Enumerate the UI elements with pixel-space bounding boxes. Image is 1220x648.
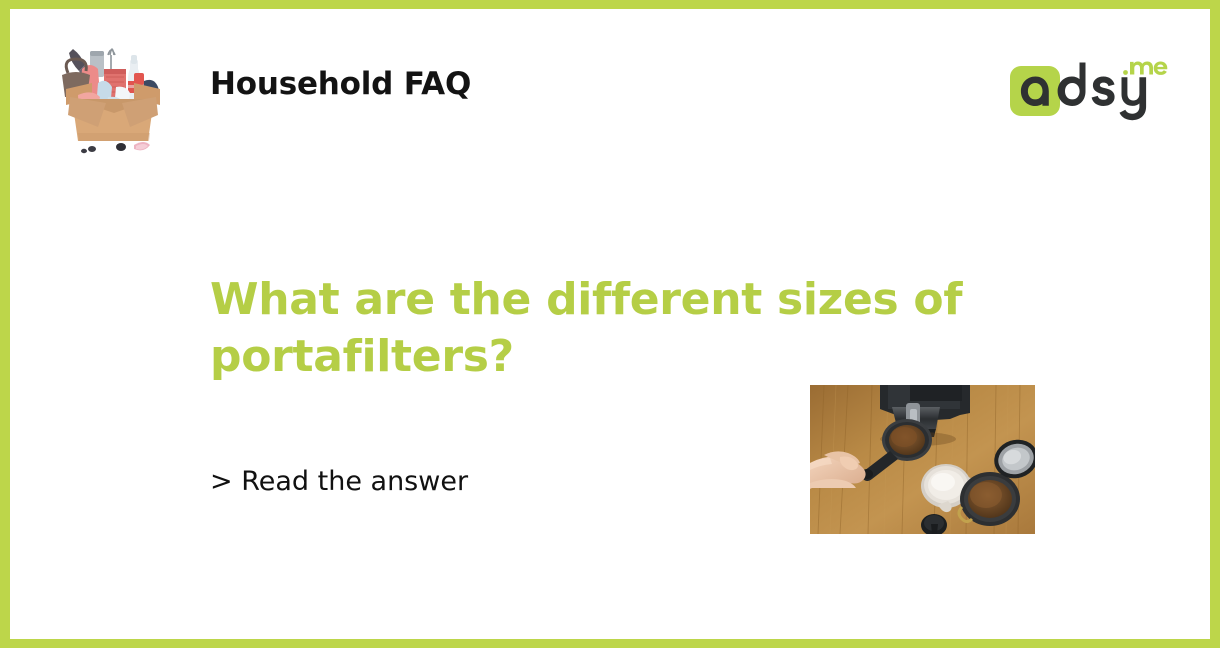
card-header: Household FAQ	[10, 9, 1210, 169]
adsy-me-logo[interactable]	[1008, 54, 1168, 129]
read-the-answer-link[interactable]: > Read the answer	[210, 466, 468, 497]
espresso-portafilter-photo	[810, 385, 1035, 534]
page-title: Household FAQ	[210, 66, 471, 102]
faq-question-headline: What are the different sizes of portafil…	[210, 271, 1010, 385]
card-canvas: Household FAQ	[10, 9, 1210, 639]
faq-card: Household FAQ	[0, 0, 1220, 648]
cardboard-box-with-household-items-icon	[48, 25, 178, 155]
